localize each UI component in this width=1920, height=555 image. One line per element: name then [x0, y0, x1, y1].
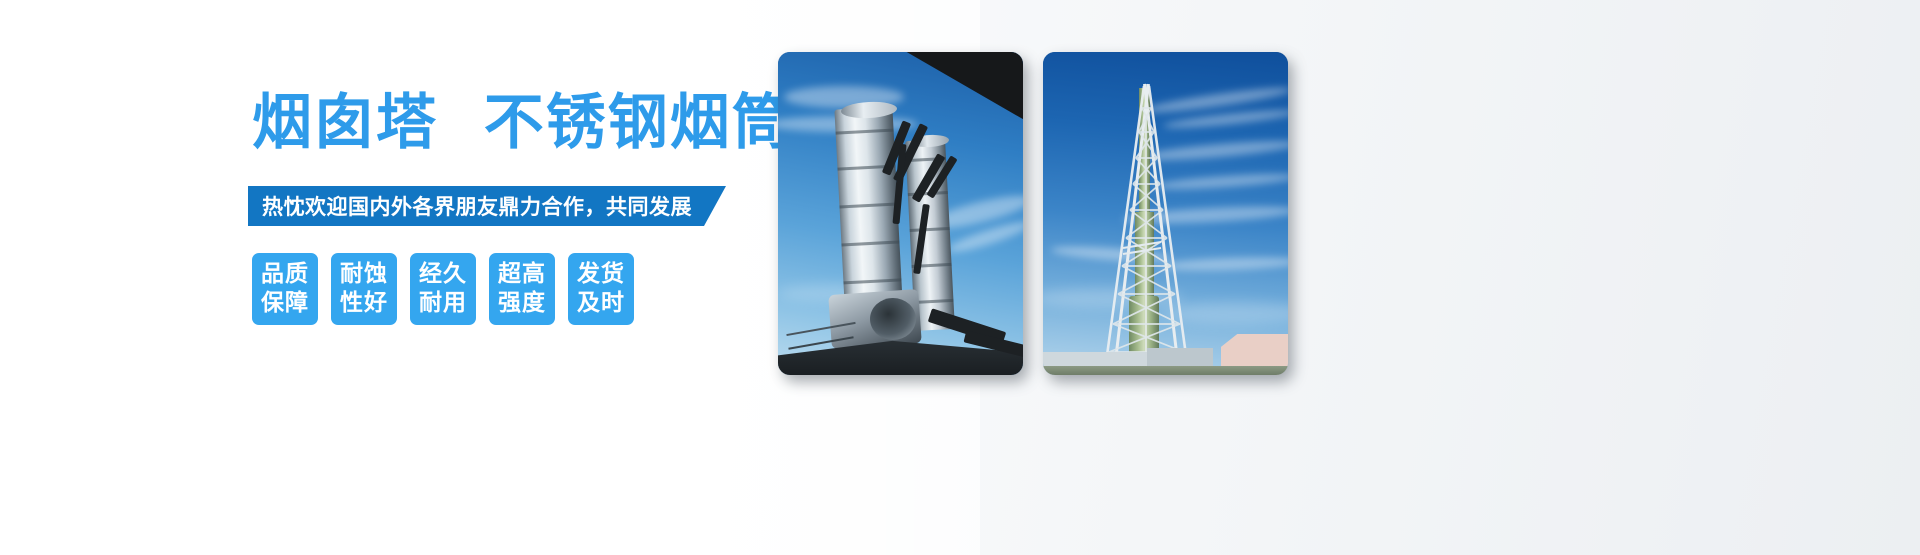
badge-line-1: 耐蚀 [340, 260, 388, 289]
badge-line-2: 保障 [261, 289, 309, 318]
slogan-text: 热忱欢迎国内外各界朋友鼎力合作，共同发展 [262, 191, 692, 221]
promo-banner: 烟囱塔 不锈钢烟筒 热忱欢迎国内外各界朋友鼎力合作，共同发展 品质 保障 耐蚀 … [0, 0, 1920, 555]
badge-line-1: 经久 [419, 260, 467, 289]
feature-badge[interactable]: 品质 保障 [252, 253, 318, 325]
feature-badge[interactable]: 超高 强度 [489, 253, 555, 325]
stainless-stacks-image [778, 52, 1023, 375]
feature-badge[interactable]: 经久 耐用 [410, 253, 476, 325]
badge-line-2: 强度 [498, 289, 546, 318]
slogan-ribbon: 热忱欢迎国内外各界朋友鼎力合作，共同发展 [248, 186, 726, 226]
feature-badge-list: 品质 保障 耐蚀 性好 经久 耐用 超高 强度 发货 及时 [252, 253, 634, 325]
photo-card-lattice-tower[interactable] [1043, 52, 1288, 375]
badge-line-1: 品质 [261, 260, 309, 289]
banner-content: 烟囱塔 不锈钢烟筒 热忱欢迎国内外各界朋友鼎力合作，共同发展 品质 保障 耐蚀 … [0, 0, 790, 555]
badge-line-2: 及时 [577, 289, 625, 318]
badge-line-2: 性好 [340, 289, 388, 318]
badge-line-2: 耐用 [419, 289, 467, 318]
feature-badge[interactable]: 发货 及时 [568, 253, 634, 325]
badge-line-1: 超高 [498, 260, 546, 289]
lattice-tower-image [1043, 52, 1288, 375]
banner-headline: 烟囱塔 不锈钢烟筒 [252, 88, 794, 159]
badge-line-1: 发货 [577, 260, 625, 289]
feature-badge[interactable]: 耐蚀 性好 [331, 253, 397, 325]
photo-card-stainless-stacks[interactable] [778, 52, 1023, 375]
